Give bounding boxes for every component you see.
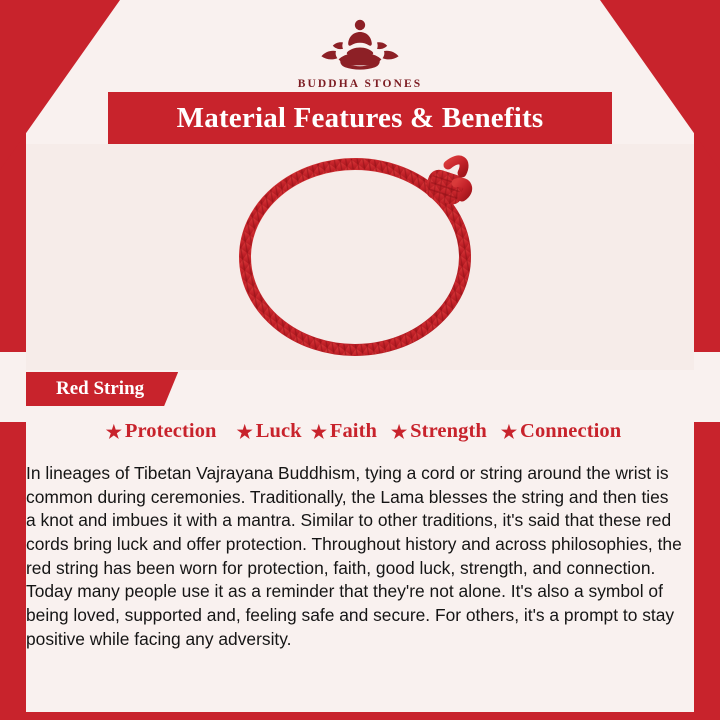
hero-image xyxy=(26,144,694,370)
star-icon: ★ xyxy=(391,423,407,441)
benefits-row: ★ Protection ★ Luck ★ Faith ★ Strength ★… xyxy=(26,420,694,443)
benefit-item-luck: ★ Luck xyxy=(237,420,302,443)
star-icon: ★ xyxy=(311,423,327,441)
description-block: In lineages of Tibetan Vajrayana Buddhis… xyxy=(26,456,694,696)
star-icon: ★ xyxy=(237,423,253,441)
benefit-label: Connection xyxy=(520,420,621,443)
benefit-item-strength: ★ Strength xyxy=(391,420,487,443)
benefit-label: Protection xyxy=(125,420,217,443)
page-title: Material Features & Benefits xyxy=(177,102,544,135)
brand-name: BUDDHA STONES xyxy=(0,78,720,90)
benefit-item-faith: ★ Faith xyxy=(311,420,377,443)
benefit-item-protection: ★ Protection xyxy=(106,420,217,443)
bottom-border-strip xyxy=(0,712,720,720)
description-paragraph: In lineages of Tibetan Vajrayana Buddhis… xyxy=(26,462,682,651)
infographic-page: BUDDHA STONES Material Features & Benefi… xyxy=(0,0,720,720)
product-label: Red String xyxy=(56,378,144,400)
brand-logo: BUDDHA STONES xyxy=(0,14,720,90)
star-icon: ★ xyxy=(501,423,517,441)
red-braided-string-bracelet-icon xyxy=(210,139,510,369)
benefit-item-connection: ★ Connection xyxy=(501,420,621,443)
left-notch xyxy=(0,352,26,422)
benefit-label: Faith xyxy=(330,420,377,443)
right-notch xyxy=(694,352,720,422)
title-banner: Material Features & Benefits xyxy=(108,92,612,144)
benefit-label: Luck xyxy=(256,420,302,443)
product-label-tab: Red String xyxy=(26,372,178,406)
star-icon: ★ xyxy=(106,423,122,441)
benefit-label: Strength xyxy=(410,420,487,443)
lotus-meditation-icon xyxy=(0,14,720,75)
